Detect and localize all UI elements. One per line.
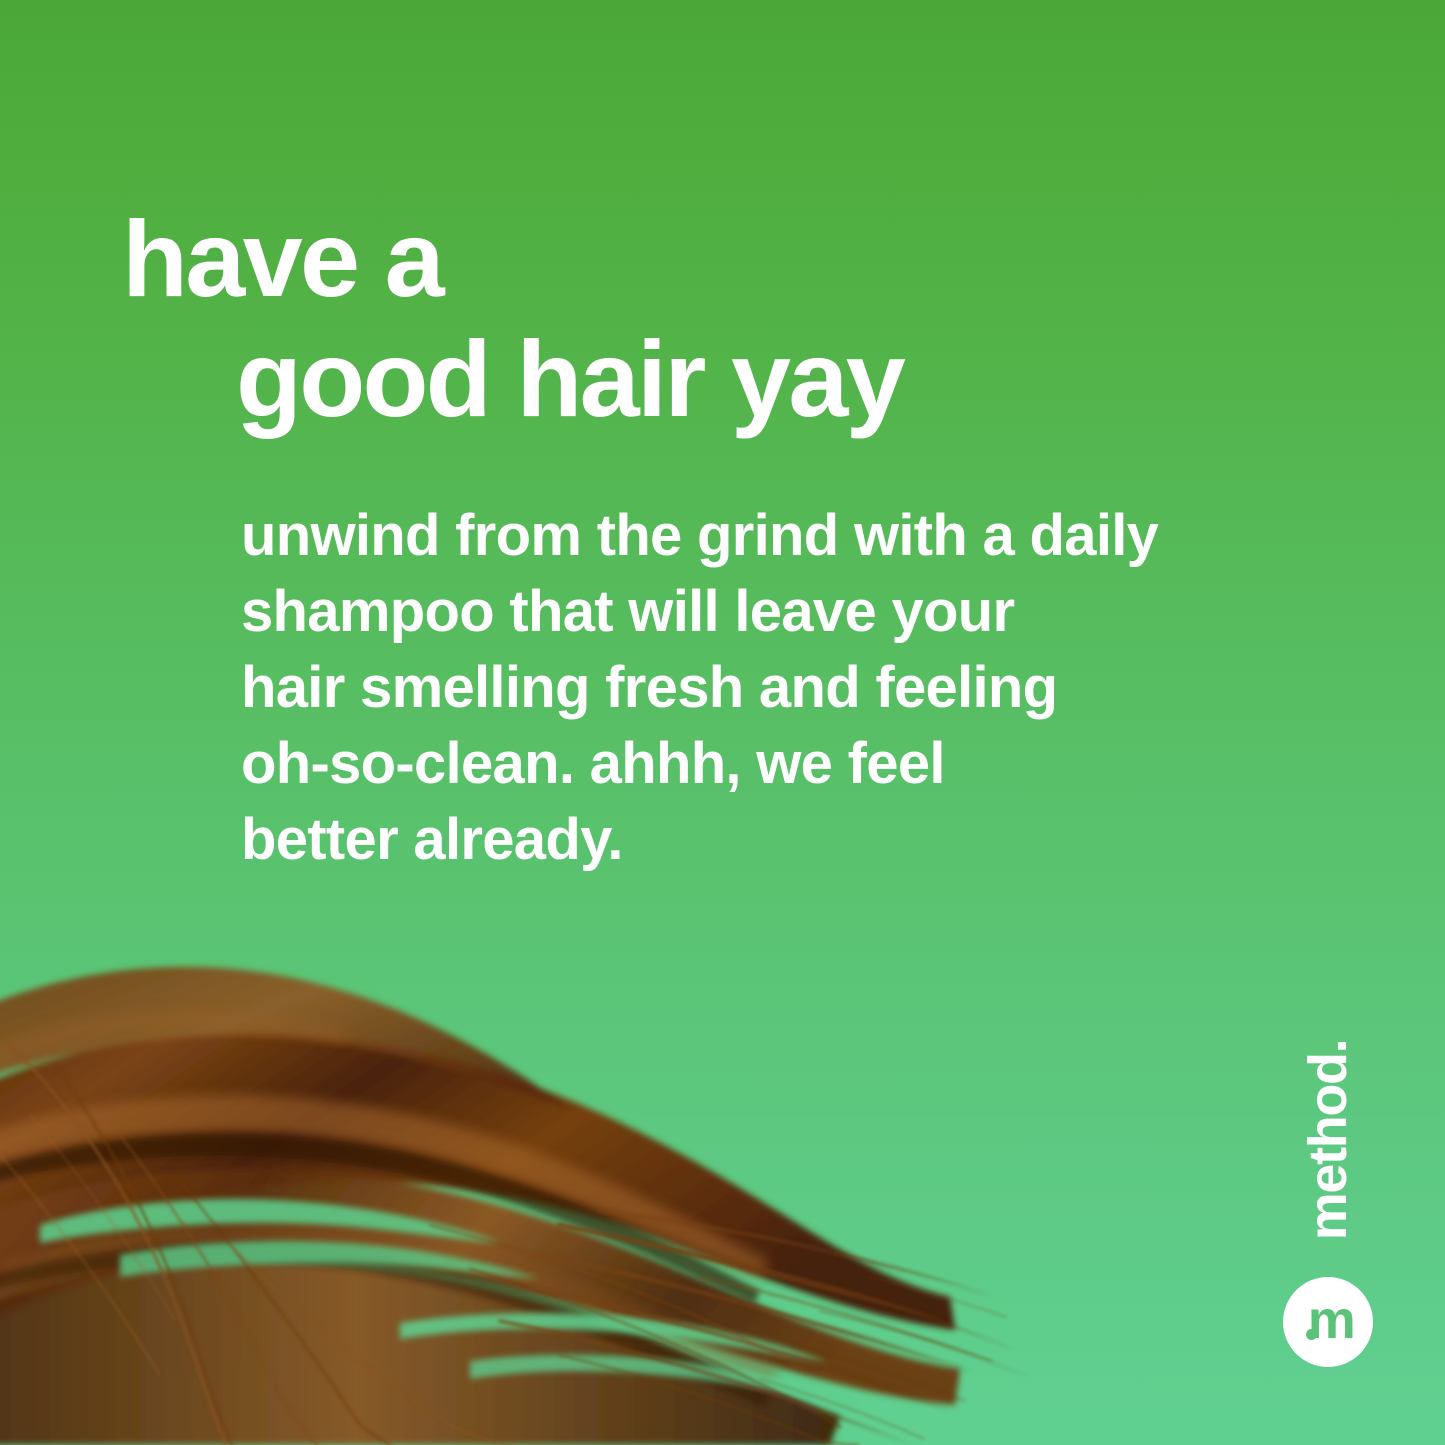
method-wordmark-text: method. xyxy=(1301,1040,1355,1241)
headline-line-2: good hair yay xyxy=(236,325,903,433)
body-line: unwind from the grind with a daily xyxy=(241,498,1251,574)
ad-canvas: have a good hair yay unwind from the gri… xyxy=(0,0,1445,1445)
brand-logo: method. m xyxy=(1273,1031,1383,1367)
method-wordmark-vertical: method. xyxy=(1273,1031,1383,1249)
method-badge-icon: m xyxy=(1283,1277,1373,1367)
hair-photo xyxy=(0,925,1050,1445)
body-line: shampoo that will leave your xyxy=(241,574,1251,650)
badge-dot-icon xyxy=(1306,1329,1317,1340)
body-line: better already. xyxy=(241,802,1251,878)
body-line: hair smelling fresh and feeling xyxy=(241,650,1251,726)
headline-line-1: have a xyxy=(122,205,442,313)
hair-illustration xyxy=(0,925,1050,1445)
body-line: oh-so-clean. ahhh, we feel xyxy=(241,726,1251,802)
body-copy: unwind from the grind with a daily shamp… xyxy=(241,498,1251,878)
